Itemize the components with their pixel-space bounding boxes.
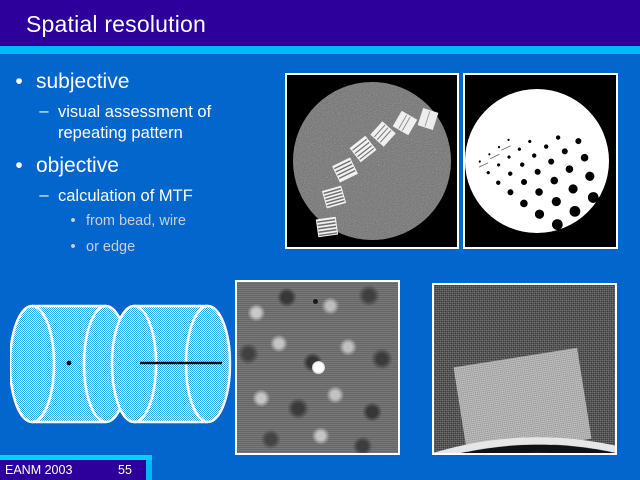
bead-and-wire-cylinder-diagram [10, 288, 232, 440]
bullet-text: objective [36, 154, 119, 178]
ct-bar-pattern-svg [287, 75, 457, 247]
slide-number: 55 [118, 463, 132, 477]
footer-accent-edge [146, 460, 152, 480]
bullet-item-visual-assessment: – visual assessment of repeating pattern [36, 102, 275, 150]
bead-marker [67, 361, 72, 366]
title-bar: Spatial resolution [0, 0, 640, 46]
bead-small-dark-spot [313, 299, 318, 304]
edge-phantom-image [432, 283, 617, 455]
title-accent-rule-lower [0, 54, 640, 57]
bullet-text: from bead, wire [86, 213, 186, 229]
bullet-marker: • [10, 154, 28, 178]
cylinder-with-wire [112, 306, 230, 422]
ct-dot-array-svg [465, 75, 616, 247]
ct-bar-pattern-phantom-image [285, 73, 459, 249]
cylinder-with-bead [10, 306, 128, 422]
bullet-marker: • [66, 239, 80, 255]
footer-event-label: EANM 2003 [5, 463, 72, 477]
bullet-marker: – [36, 102, 52, 121]
edge-arc-svg [434, 285, 615, 453]
bullet-item-calculation-mtf: – calculation of MTF [36, 186, 275, 213]
ct-bar-pattern-binarized-image [463, 73, 618, 249]
bullet-item-objective: • objective [10, 154, 275, 186]
bullet-text: subjective [36, 70, 129, 94]
bead-bright-spot [312, 361, 325, 374]
title-accent-rule [0, 46, 640, 54]
slide: Spatial resolution • subjective – visual… [0, 0, 640, 480]
bullet-text: visual assessment of repeating pattern [58, 102, 278, 144]
bullet-marker: – [36, 186, 52, 205]
bead-point-source-image [235, 280, 400, 455]
bullet-marker: • [10, 70, 28, 94]
page-title: Spatial resolution [26, 11, 206, 38]
bullet-item-from-bead-wire: • from bead, wire [66, 213, 275, 239]
cylinder-diagram-svg [10, 288, 232, 440]
bullet-marker: • [66, 213, 80, 229]
bullet-list: • subjective – visual assessment of repe… [0, 70, 275, 265]
bullet-text: calculation of MTF [58, 186, 278, 207]
bullet-text: or edge [86, 239, 135, 255]
bullet-item-or-edge: • or edge [66, 239, 275, 265]
bullet-item-subjective: • subjective [10, 70, 275, 102]
